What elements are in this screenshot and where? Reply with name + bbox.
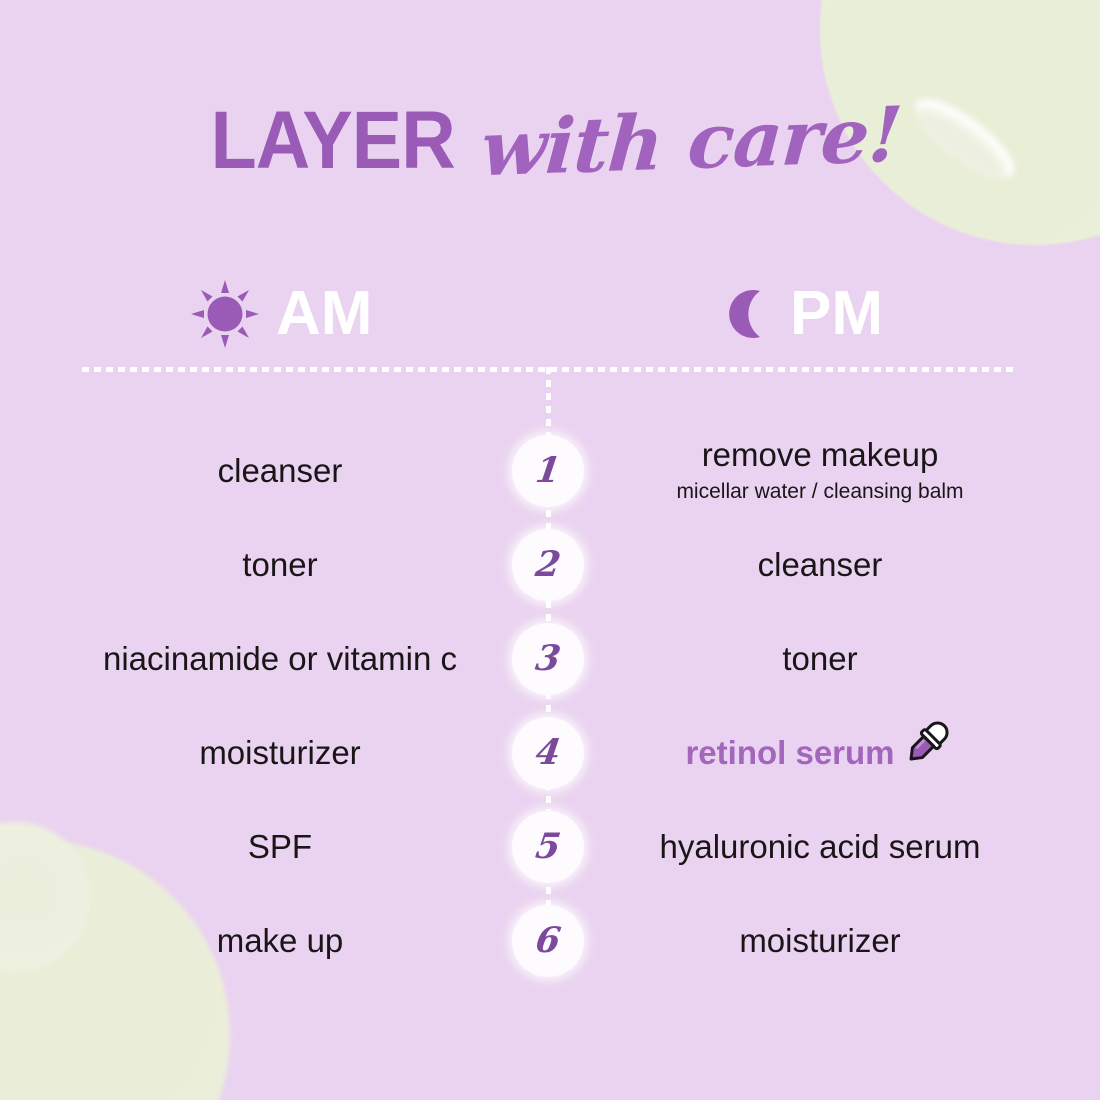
am-cell: toner <box>60 531 500 599</box>
pm-step-label: cleanser <box>758 547 883 584</box>
step-badge: 3 <box>512 623 584 695</box>
pm-cell: remove makeup micellar water / cleansing… <box>600 437 1040 505</box>
am-cell: make up <box>60 907 500 975</box>
am-step-label: toner <box>242 547 317 584</box>
step-badge: 6 <box>512 905 584 977</box>
infographic-canvas: LAYERwith care! <box>0 0 1100 1100</box>
step-number: 4 <box>533 735 562 770</box>
pm-cell: toner <box>600 625 1040 693</box>
step-number: 1 <box>533 453 562 488</box>
step-badge: 1 <box>512 435 584 507</box>
pm-step-label: moisturizer <box>739 923 900 960</box>
am-step-label: cleanser <box>218 453 343 490</box>
dropper-icon <box>901 715 955 769</box>
step-badge: 2 <box>512 529 584 601</box>
step-badge: 5 <box>512 811 584 883</box>
step-number: 5 <box>533 829 562 864</box>
pm-step-sublabel: micellar water / cleansing balm <box>676 479 963 504</box>
routine-rows: cleanser 1 remove makeup micellar water … <box>0 0 1100 1100</box>
pm-step-label: remove makeup <box>702 437 939 474</box>
pm-step-label: retinol serum <box>685 735 894 772</box>
am-step-label: moisturizer <box>199 735 360 772</box>
pm-cell: hyaluronic acid serum <box>600 813 1040 881</box>
pm-step-label: hyaluronic acid serum <box>660 829 981 866</box>
step-number: 6 <box>533 923 562 958</box>
pm-step-label: toner <box>782 641 857 678</box>
pm-cell: cleanser <box>600 531 1040 599</box>
pm-cell: retinol serum <box>600 719 1040 787</box>
am-step-label: make up <box>217 923 344 960</box>
am-cell: cleanser <box>60 437 500 505</box>
step-number: 2 <box>533 547 562 582</box>
am-step-label: SPF <box>248 829 312 866</box>
step-number: 3 <box>533 641 562 676</box>
am-step-label: niacinamide or vitamin c <box>103 641 457 678</box>
step-badge: 4 <box>512 717 584 789</box>
am-cell: niacinamide or vitamin c <box>60 625 500 693</box>
pm-cell: moisturizer <box>600 907 1040 975</box>
am-cell: SPF <box>60 813 500 881</box>
am-cell: moisturizer <box>60 719 500 787</box>
